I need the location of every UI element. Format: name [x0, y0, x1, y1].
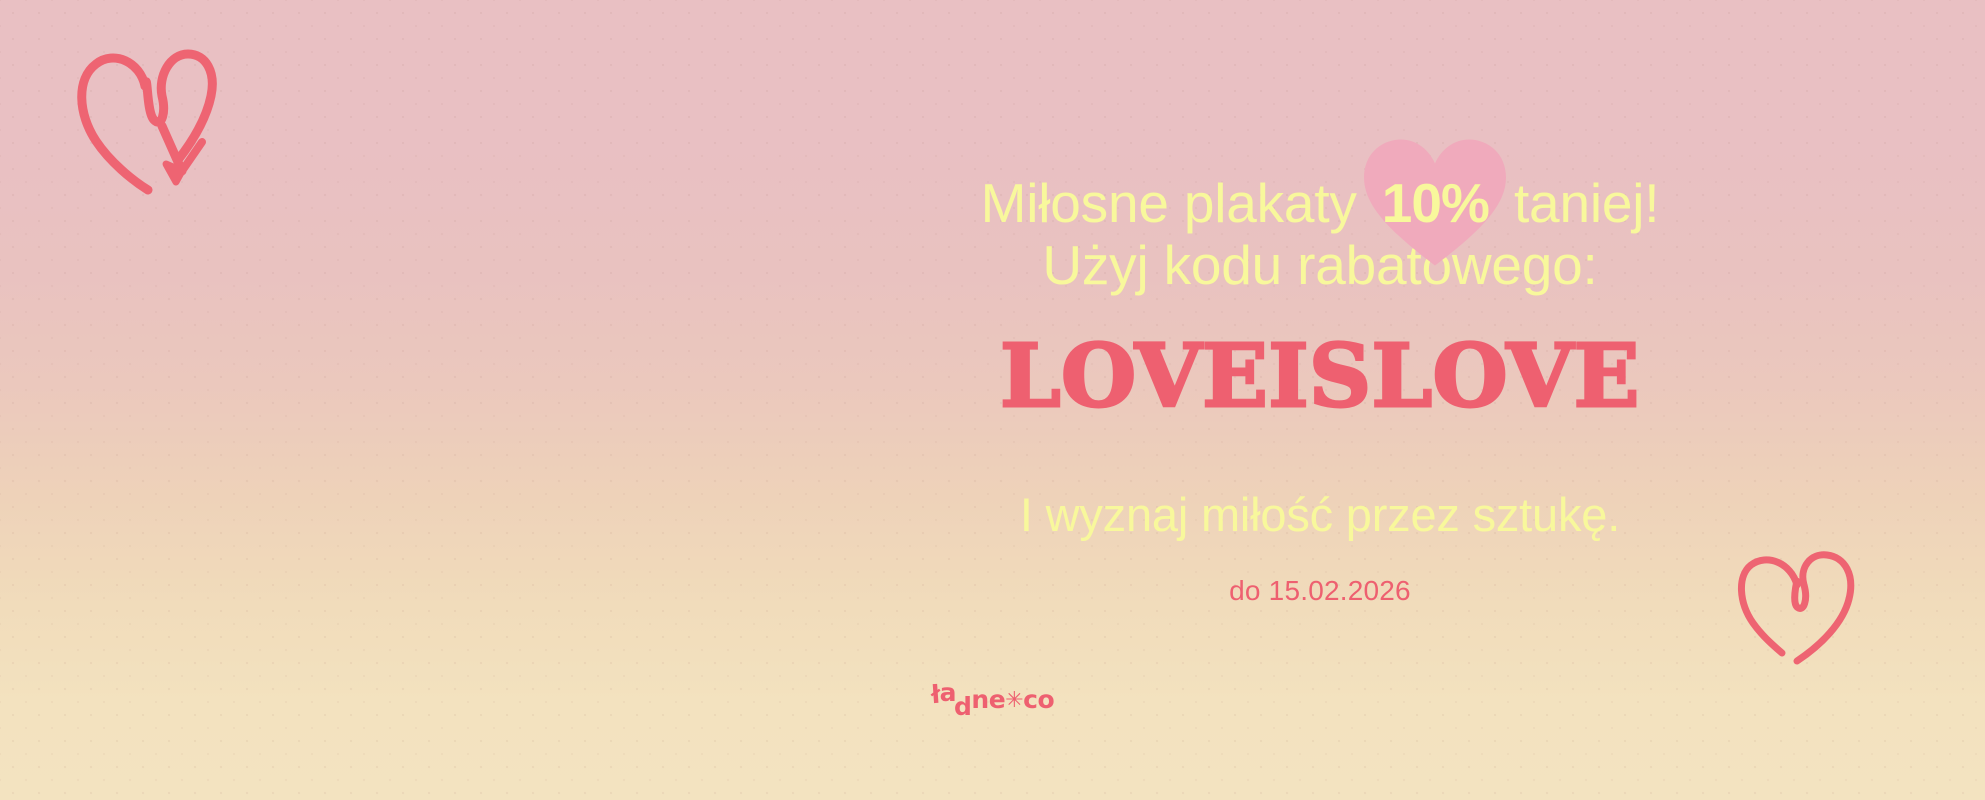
discount-badge: 10% [1372, 172, 1499, 234]
headline-line-1: Miłosne plakaty 10% taniej! [640, 172, 1985, 234]
banner-content: Miłosne plakaty 10% taniej! Użyj kodu ra… [0, 0, 1985, 800]
logo-letter-d: d [954, 692, 971, 722]
promo-banner: Miłosne plakaty 10% taniej! Użyj kodu ra… [0, 0, 1985, 800]
logo-letters-co: co [1023, 685, 1054, 715]
brand-logo-wordmark: ładne✳co [931, 685, 1054, 717]
tagline: I wyznaj miłość przez sztukę. [640, 487, 1985, 543]
discount-value: 10% [1382, 172, 1489, 234]
headline-text-after: taniej! [1499, 172, 1659, 234]
headline-text-before: Miłosne plakaty [981, 172, 1372, 234]
headline-line-2: Użyj kodu rabatowego: [640, 234, 1985, 296]
headline: Miłosne plakaty 10% taniej! Użyj kodu ra… [640, 172, 1985, 296]
logo-letters-ne: ne [971, 685, 1005, 715]
validity-date: do 15.02.2026 [640, 573, 1985, 609]
brand-logo[interactable]: ładne✳co [0, 685, 1985, 717]
promo-code: LOVEISLOVE [640, 330, 1985, 424]
logo-asterisk-icon: ✳ [1005, 686, 1023, 716]
